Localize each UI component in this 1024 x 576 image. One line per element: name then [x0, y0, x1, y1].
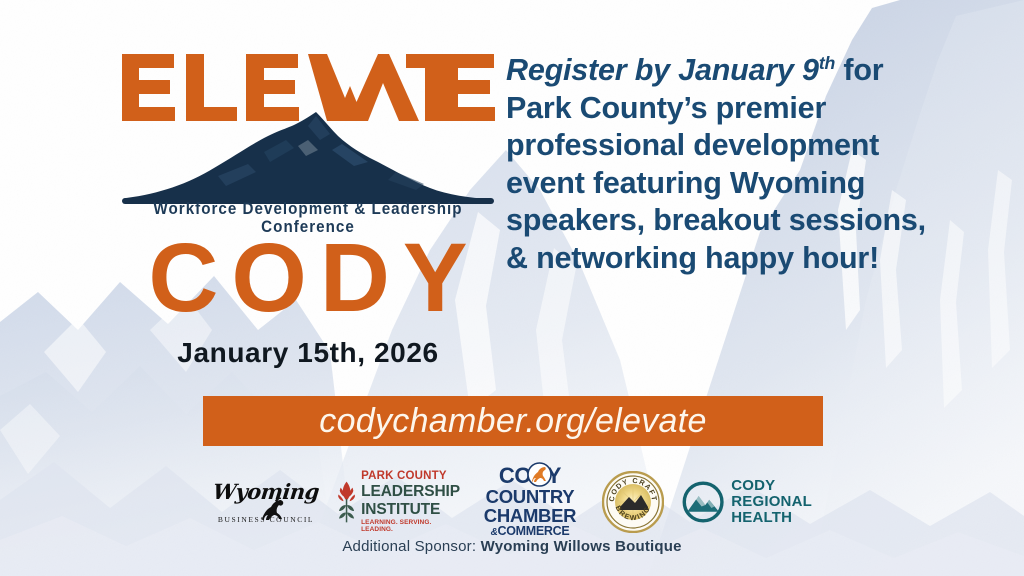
register-deadline-text: Register by January 9 — [506, 53, 819, 87]
brewing-badge-icon: CODY CRAFT BREWING — [602, 471, 664, 533]
sponsor-logo-cody-country-chamber[interactable]: CODY COUNTRY CHAMBER &COMMERCE — [476, 467, 584, 537]
pcli-tagline: LEARNING. SERVING. LEADING. — [361, 520, 460, 533]
cccc-line-4: &COMMERCE — [491, 525, 570, 538]
cccc-ampersand: & — [491, 527, 498, 538]
city-title: CODY — [118, 228, 498, 328]
event-promo-poster: Workforce Development & Leadership Confe… — [0, 0, 1024, 576]
additional-sponsor-line: Additional Sponsor: Wyoming Willows Bout… — [0, 538, 1024, 555]
bucking-horse-icon — [258, 497, 288, 523]
sponsor-logo-cody-craft-brewing[interactable]: CODY CRAFT BREWING — [600, 467, 666, 537]
bucking-horse-seal-icon — [527, 462, 552, 487]
tagline-line-1: Workforce Development & Leadership — [133, 200, 483, 218]
pcli-line-2: LEADERSHIP — [361, 484, 460, 500]
cccc-line-1: CODY — [499, 465, 561, 487]
cccc-line-2: COUNTRY — [486, 488, 575, 507]
sponsor-logo-cody-regional-health[interactable]: CODY REGIONAL HEALTH — [682, 467, 812, 537]
cccc-line-3: CHAMBER — [484, 507, 576, 526]
crh-line-3: HEALTH — [731, 510, 812, 526]
event-date: January 15th, 2026 — [118, 337, 498, 369]
ordinal-suffix: th — [819, 53, 835, 73]
registration-url-banner[interactable]: codychamber.org/elevate — [203, 396, 823, 446]
crh-line-1: CODY — [731, 478, 812, 494]
event-description: Register by January 9th for Park County’… — [506, 52, 926, 277]
mountain-circle-icon — [682, 474, 724, 530]
crh-line-2: REGIONAL — [731, 494, 812, 510]
cccc-line-4-text: COMMERCE — [498, 524, 570, 538]
elevate-logo: Workforce Development & Leadership Confe… — [118, 48, 498, 238]
additional-sponsor-name: Wyoming Willows Boutique — [481, 538, 682, 555]
sponsor-logo-wyoming-business-council[interactable]: Wyoming BUSINESS COUNCIL — [212, 467, 320, 537]
sponsor-logo-row: Wyoming BUSINESS COUNCIL — [212, 466, 812, 538]
additional-sponsor-label: Additional Sponsor: — [342, 538, 476, 555]
register-deadline-lead: Register by January 9th — [506, 53, 835, 87]
pcli-line-1: PARK COUNTY — [361, 471, 460, 483]
pcli-line-3: INSTITUTE — [361, 502, 460, 518]
registration-url[interactable]: codychamber.org/elevate — [319, 402, 706, 441]
mountain-silhouette-icon — [118, 110, 498, 206]
sponsor-logo-park-county-leadership-institute[interactable]: PARK COUNTY LEADERSHIP INSTITUTE LEARNIN… — [336, 467, 460, 537]
indian-paintbrush-flower-icon — [336, 473, 357, 531]
